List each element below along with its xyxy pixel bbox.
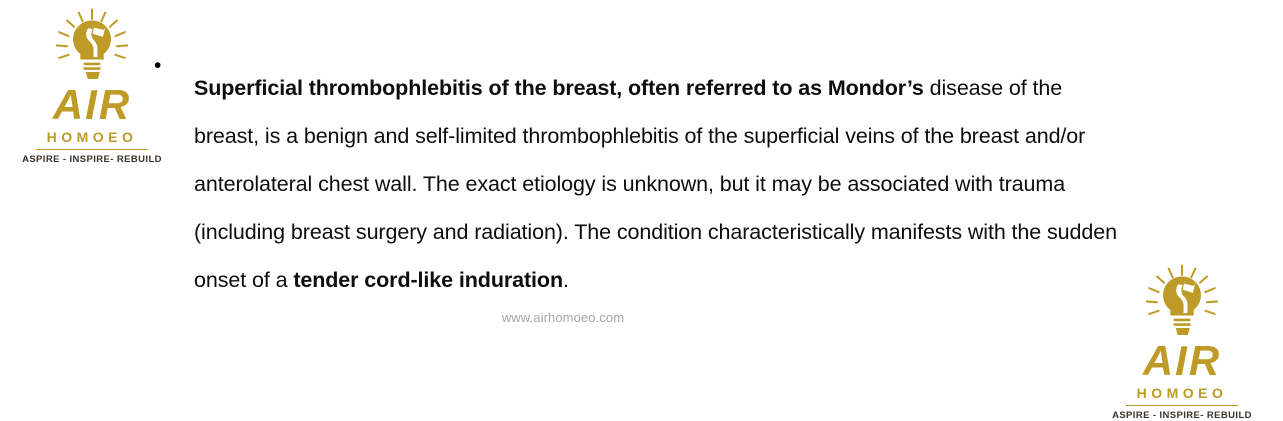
logo-tagline: ASPIRE - INSPIRE- REBUILD — [22, 155, 162, 165]
emphasis-text: Superficial thrombophlebitis of the brea… — [194, 76, 930, 100]
site-watermark: www.airhomoeo.com — [0, 310, 1126, 325]
logo-divider — [36, 149, 148, 150]
logo-divider — [1126, 405, 1238, 406]
body-text: disease of the breast, is a benign and s… — [194, 76, 1117, 292]
logo-subtitle: HOMOEO — [1137, 386, 1228, 400]
bullet-paragraph: Superficial thrombophlebitis of the brea… — [194, 64, 1125, 304]
emphasis-text: tender cord-like induration — [293, 268, 563, 292]
slide-body: • Superficial thrombophlebitis of the br… — [150, 42, 1125, 325]
logo-wordmark: AIR — [1143, 340, 1221, 382]
brand-logo-bottom-right: AIR HOMOEO ASPIRE - INSPIRE- REBUILD — [1112, 264, 1252, 421]
logo-wordmark: AIR — [53, 84, 131, 126]
bullet-list-item: • Superficial thrombophlebitis of the br… — [150, 42, 1125, 325]
logo-subtitle: HOMOEO — [47, 130, 138, 144]
lightbulb-idea-icon — [1139, 264, 1225, 342]
slide-canvas: AIR HOMOEO ASPIRE - INSPIRE- REBUILD • S… — [0, 0, 1283, 418]
logo-tagline: ASPIRE - INSPIRE- REBUILD — [1112, 411, 1252, 421]
body-text: . — [563, 268, 569, 292]
bullet-marker-icon: • — [150, 42, 194, 90]
brand-logo-top-left: AIR HOMOEO ASPIRE - INSPIRE- REBUILD — [22, 8, 162, 165]
lightbulb-idea-icon — [49, 8, 135, 86]
